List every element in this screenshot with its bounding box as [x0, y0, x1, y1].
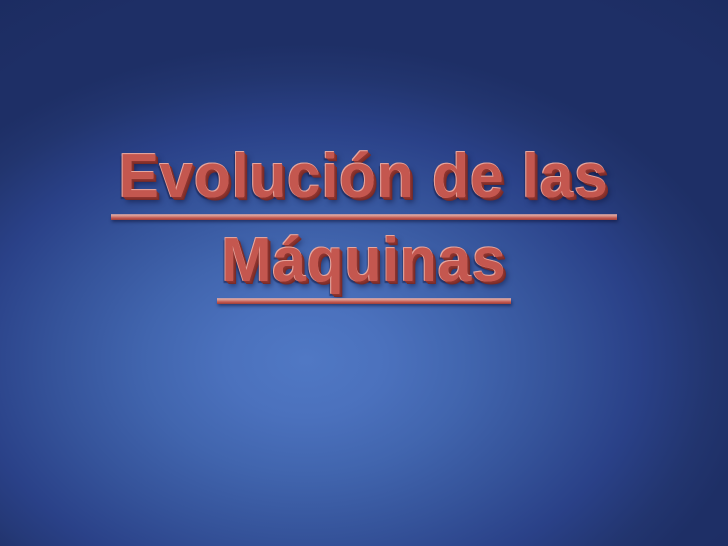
title-slide: Evolución de las Máquinas	[0, 0, 728, 546]
title-line-2-text: Máquinas	[221, 230, 506, 292]
title-line-1-underline	[111, 215, 616, 220]
slide-title: Evolución de las Máquinas	[0, 146, 728, 304]
title-line-1: Evolución de las	[0, 146, 728, 220]
title-line-1-text: Evolución de las	[119, 146, 609, 208]
title-line-2-inner: Máquinas	[217, 230, 511, 304]
title-line-2-underline	[217, 299, 511, 304]
title-line-2: Máquinas	[0, 230, 728, 304]
title-line-1-inner: Evolución de las	[111, 146, 616, 220]
